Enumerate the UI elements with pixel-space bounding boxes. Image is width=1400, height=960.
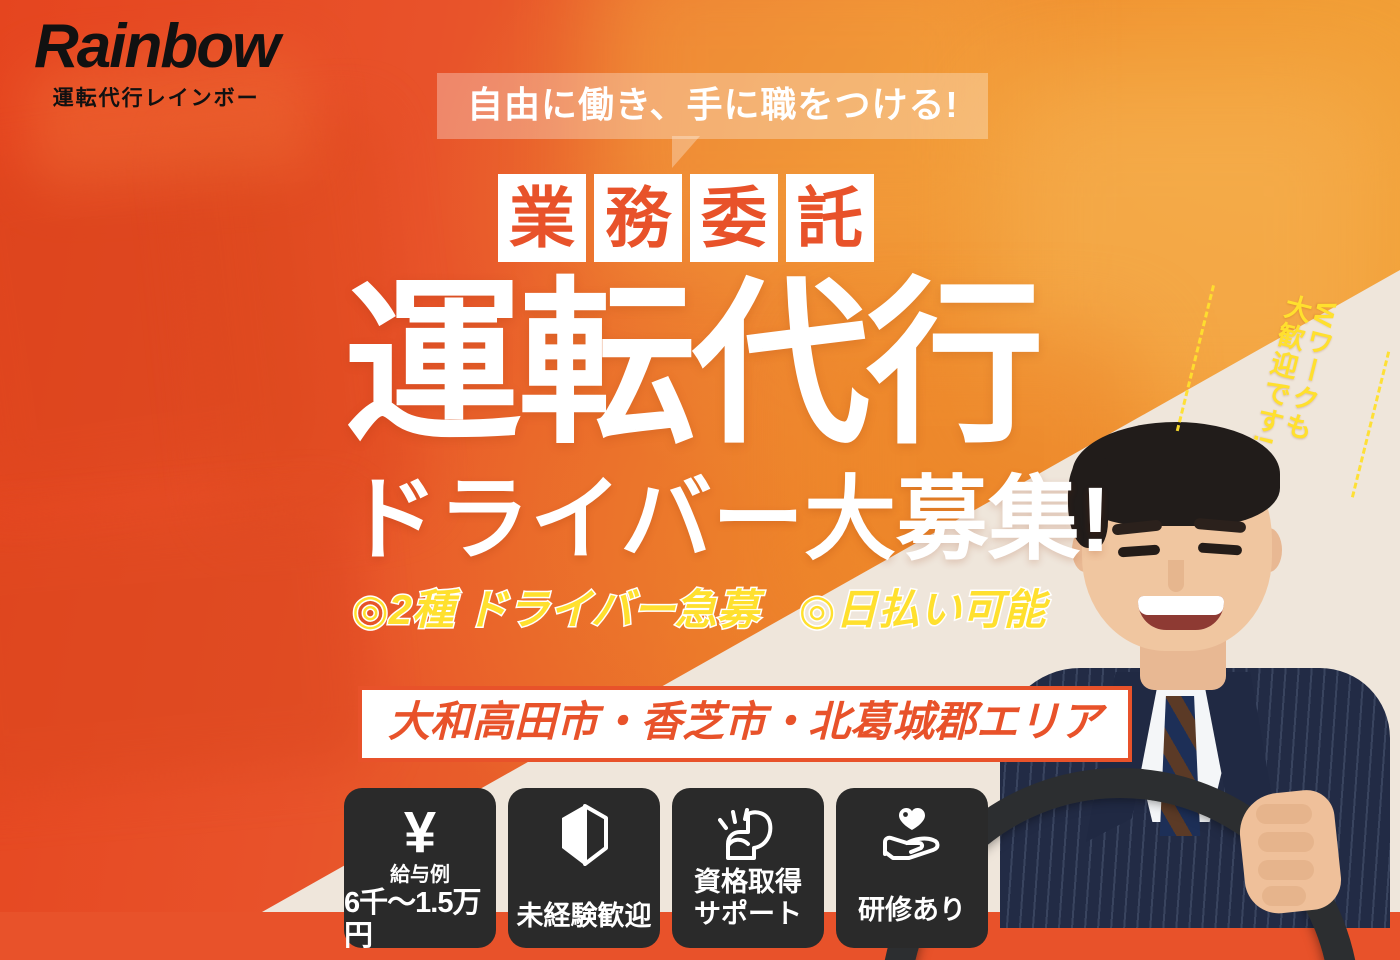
finger — [1258, 860, 1314, 880]
recruitment-banner: Rainbow 運転代行レインボー 自由に働き、手に職をつける! 業 務 委 託… — [0, 0, 1400, 960]
finger — [1256, 804, 1312, 824]
headline-secondary: ドライバー大募集! — [346, 474, 1111, 566]
badge-no-experience[interactable]: 未経験歓迎 — [508, 788, 660, 948]
badge-license-support[interactable]: 資格取得 サポート — [672, 788, 824, 948]
badge-no-experience-label: 未経験歓迎 — [517, 900, 652, 932]
heart-in-hand-icon — [881, 804, 943, 866]
nose — [1168, 560, 1184, 592]
yen-glyph: ¥ — [404, 804, 436, 862]
badge-training-label: 研修あり — [858, 894, 966, 926]
bullet-item: ◎日払い可能 — [799, 585, 1046, 635]
headline-primary: 運転代行 — [344, 276, 1040, 454]
finger — [1262, 886, 1306, 906]
beginner-mark-icon — [559, 804, 609, 866]
badge-salary-amount: 6千〜1.5万円 — [344, 887, 496, 954]
flexed-arm-icon — [718, 804, 778, 866]
service-area-box: 大和高田市・香芝市・北葛城郡エリア — [358, 686, 1132, 762]
yen-icon: ¥ — [404, 804, 436, 862]
finger — [1258, 832, 1314, 852]
kanji-box: 委 — [690, 174, 778, 262]
tagline-speech-bubble: 自由に働き、手に職をつける! — [437, 73, 988, 139]
badge-license-support-line1: 資格取得 — [694, 866, 802, 898]
highlight-bullets: ◎2種 ドライバー急募 ◎日払い可能 — [352, 585, 1046, 635]
badge-salary[interactable]: ¥ 給与例 6千〜1.5万円 — [344, 788, 496, 948]
logo-wordmark: Rainbow — [34, 16, 278, 78]
background-blur-shape — [0, 502, 371, 798]
employment-type-boxes: 業 務 委 託 — [498, 174, 874, 262]
tagline-text: 自由に働き、手に職をつける! — [467, 85, 958, 125]
teeth — [1138, 596, 1224, 615]
speech-bubble-tail — [672, 136, 700, 168]
smiling-mouth — [1138, 596, 1224, 630]
kanji-box: 業 — [498, 174, 586, 262]
service-area-text: 大和高田市・香芝市・北葛城郡エリア — [388, 698, 1102, 746]
brand-logo[interactable]: Rainbow 運転代行レインボー — [34, 16, 278, 112]
kanji-box: 託 — [786, 174, 874, 262]
badge-salary-caption: 給与例 — [390, 864, 450, 887]
benefit-badges: ¥ 給与例 6千〜1.5万円 未経験歓迎 資格取得 — [344, 788, 988, 948]
badge-license-support-line2: サポート — [694, 898, 802, 930]
kanji-box: 務 — [594, 174, 682, 262]
badge-training[interactable]: 研修あり — [836, 788, 988, 948]
logo-subtitle: 運転代行レインボー — [34, 82, 278, 112]
bullet-item: ◎2種 ドライバー急募 — [352, 585, 759, 635]
